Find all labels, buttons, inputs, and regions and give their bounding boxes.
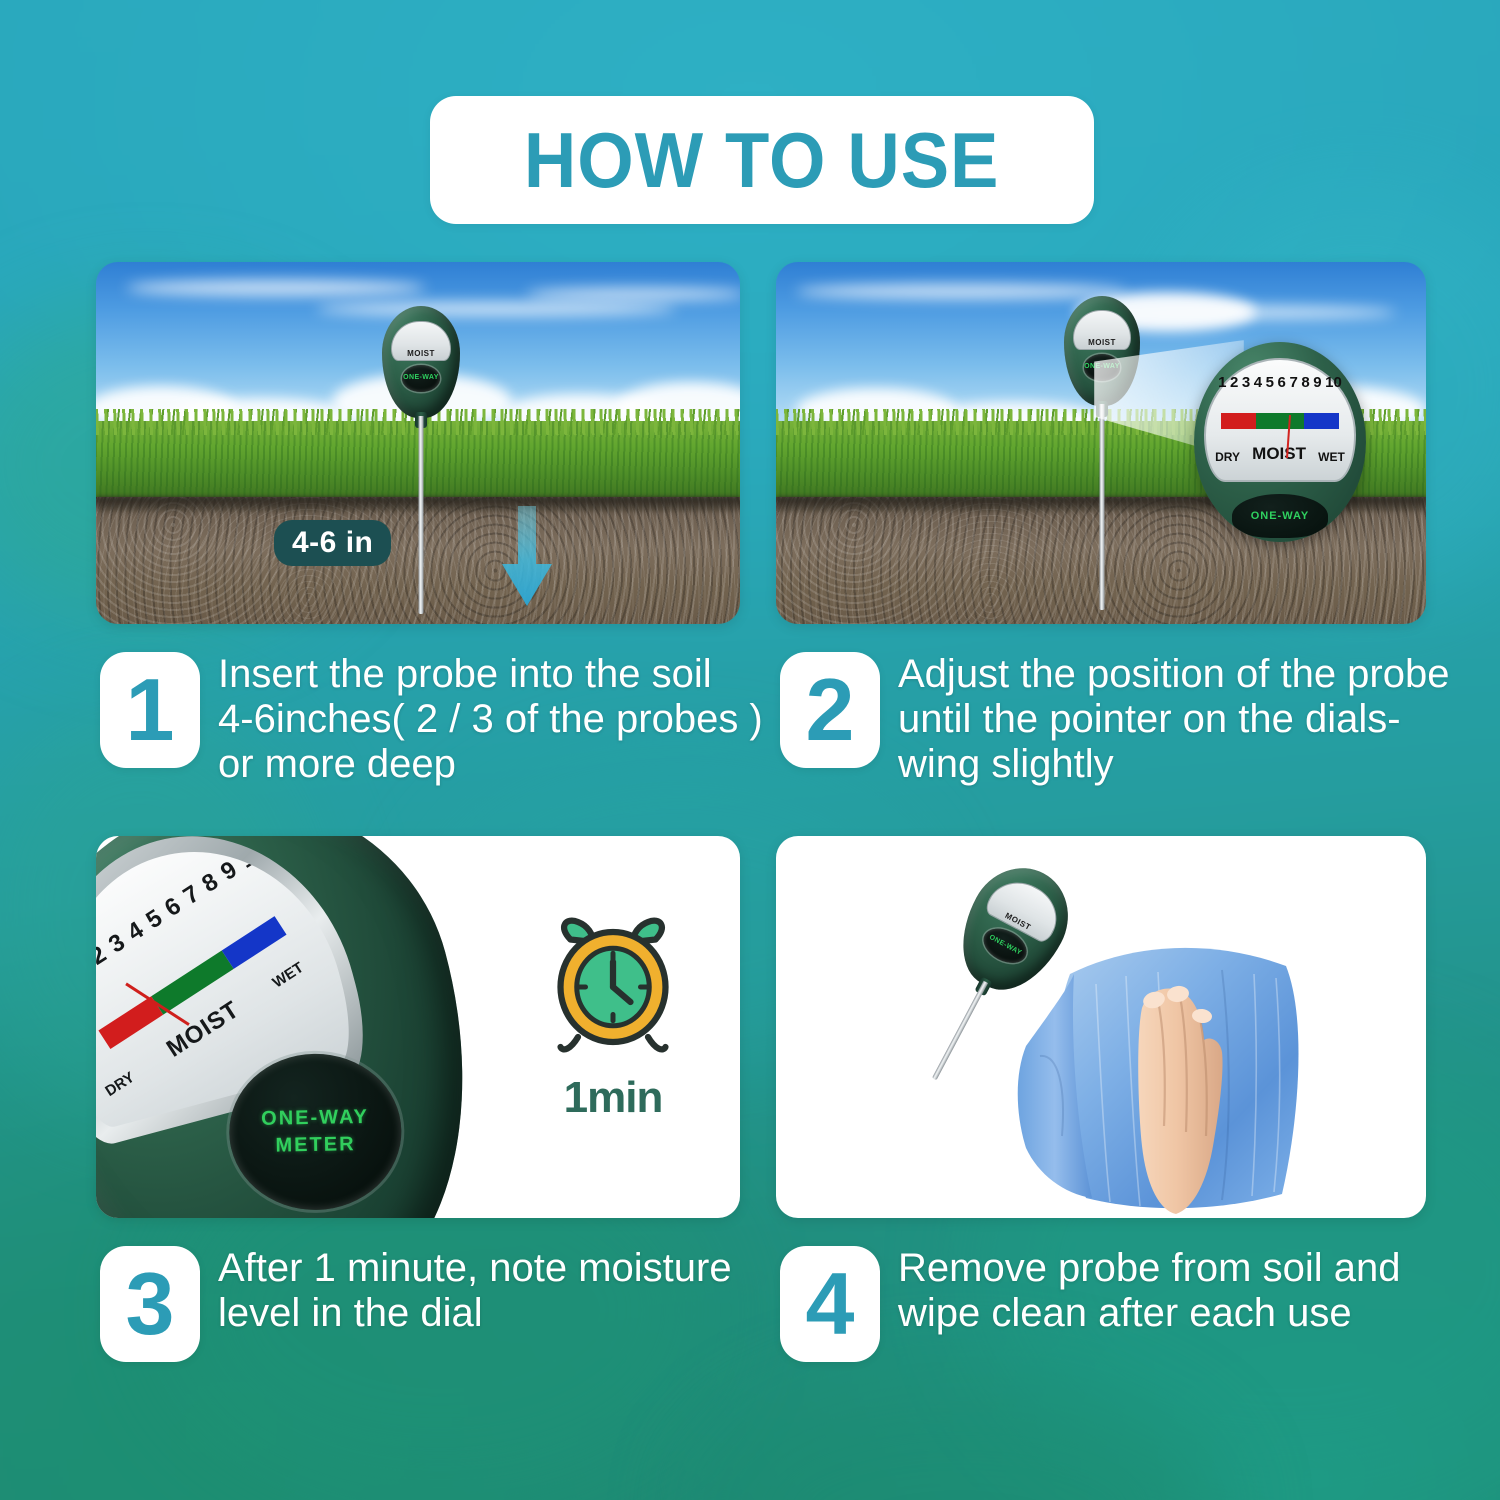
meter-scale: [396, 327, 446, 344]
step-text-line: or more deep: [218, 742, 763, 787]
dial-number: 4: [1254, 374, 1262, 391]
meter-logo-text: ONE-WAY: [402, 365, 439, 392]
step-text-line: Remove probe from soil and: [898, 1246, 1400, 1291]
magnified-dial-scale: [1221, 413, 1339, 429]
dial-number: 4: [123, 916, 149, 947]
step-1-photo: MOIST ONE-WAY 4-6 in: [96, 262, 740, 624]
step-number: 1: [126, 666, 175, 754]
cloud-wisp: [316, 302, 676, 316]
step-1-text: Insert the probe into the soil 4-6inches…: [218, 652, 763, 786]
meter-logo-badge: ONE-WAY: [402, 365, 439, 392]
step-number: 4: [806, 1260, 855, 1348]
dial-number: 10: [1325, 374, 1342, 391]
dial-number: 5: [142, 904, 168, 935]
step-1-row: 1 Insert the probe into the soil 4-6inch…: [100, 652, 763, 786]
step-number: 3: [126, 1260, 175, 1348]
step-text-line: After 1 minute, note moisture: [218, 1246, 732, 1291]
meter-dial-label: MOIST: [1074, 338, 1130, 347]
scale-zone-dry: [1221, 413, 1256, 429]
step-4-photo: MOIST ONE-WAY: [776, 836, 1426, 1218]
hand: [1124, 966, 1236, 1216]
dial-label-wet: WET: [270, 959, 307, 991]
step-text-line: Insert the probe into the soil: [218, 652, 763, 697]
meter-scale: [1077, 317, 1126, 334]
step-number-badge-3: 3: [100, 1246, 200, 1362]
alarm-clock-icon: [538, 912, 688, 1062]
meter-logo-line-2: METER: [275, 1134, 355, 1158]
step-text-line: level in the dial: [218, 1291, 732, 1336]
magnified-dial-callout: 1 2 3 4 5 6 7 8 9 10 DRY MOIST WET: [1194, 342, 1366, 542]
down-arrow-icon: [496, 506, 558, 606]
dial-number: 3: [1242, 374, 1250, 391]
meter-dial-window: MOIST: [391, 321, 450, 361]
meter-dial-label: MOIST: [392, 349, 449, 358]
scale-zone-wet: [1033, 916, 1051, 926]
step-2-row: 2 Adjust the position of the probe until…: [780, 652, 1449, 786]
cloud-wisp: [526, 288, 740, 300]
step-text-line: until the pointer on the dials-: [898, 697, 1449, 742]
meter-closeup: 1 2 3 4 5 6 7 8 9 10 DRY MOIST WET: [96, 836, 526, 1218]
step-4-text: Remove probe from soil and wipe clean af…: [898, 1246, 1400, 1336]
dial-number: 5: [1266, 374, 1274, 391]
dial-number: 7: [1289, 374, 1297, 391]
timer-label: 1min: [528, 1073, 698, 1123]
dial-number: 9: [1313, 374, 1321, 391]
title-card: HOW TO USE: [430, 96, 1094, 224]
dial-number: 3: [104, 928, 130, 959]
step-3-photo: 1 2 3 4 5 6 7 8 9 10 DRY MOIST WET: [96, 836, 740, 1218]
scale-zone-dry: [996, 896, 1014, 906]
dial-number: 9: [216, 855, 242, 886]
step-number-badge-1: 1: [100, 652, 200, 768]
step-text-line: 4-6inches( 2 / 3 of the probes ): [218, 697, 763, 742]
scale-zone-wet: [1304, 413, 1339, 429]
dial-label-dry: DRY: [103, 1069, 138, 1100]
depth-badge: 4-6 in: [274, 520, 391, 566]
dial-number: 7: [179, 880, 205, 911]
soil-meter-device: MOIST ONE-WAY: [382, 306, 460, 418]
meter-probe-rod: [419, 416, 424, 614]
step-text-line: Adjust the position of the probe: [898, 652, 1449, 697]
timer-indicator: 1min: [528, 912, 698, 1123]
dial-number: 6: [160, 892, 186, 923]
step-2-text: Adjust the position of the probe until t…: [898, 652, 1449, 786]
dial-label-moist: MOIST: [1252, 444, 1306, 464]
meter-probe-rod: [1100, 404, 1105, 610]
dial-label-dry: DRY: [1215, 450, 1240, 464]
magnified-dial-labels: DRY MOIST WET: [1215, 444, 1345, 464]
step-text-line: wing slightly: [898, 742, 1449, 787]
meter-probe-rod: [932, 981, 988, 1080]
step-number-badge-4: 4: [780, 1246, 880, 1362]
step-number: 2: [806, 666, 855, 754]
meter-dial-window: MOIST: [1073, 310, 1131, 350]
step-3-row: 3 After 1 minute, note moisture level in…: [100, 1246, 732, 1362]
dial-number: 8: [197, 867, 223, 898]
cloud-wisp: [126, 280, 426, 296]
magnified-dial-numbers: 1 2 3 4 5 6 7 8 9 10: [1218, 374, 1342, 391]
scale-zone-wet: [222, 917, 287, 970]
dial-number: 8: [1301, 374, 1309, 391]
dial-number: 6: [1278, 374, 1286, 391]
dial-label-wet: WET: [1318, 450, 1345, 464]
step-3-text: After 1 minute, note moisture level in t…: [218, 1246, 732, 1336]
step-2-photo: MOIST ONE-WAY 1 2 3 4 5 6 7 8 9 10: [776, 262, 1426, 624]
magnified-dial-face: 1 2 3 4 5 6 7 8 9 10 DRY MOIST WET: [1204, 358, 1355, 482]
meter-logo-line-1: ONE-WAY: [261, 1106, 369, 1131]
scale-zone-moist: [1014, 906, 1032, 916]
dial-number: 2: [1230, 374, 1238, 391]
scale-zone-moist: [1256, 413, 1303, 429]
step-text-line: wipe clean after each use: [898, 1291, 1400, 1336]
page-title: HOW TO USE: [524, 121, 999, 199]
magnified-logo-badge: ONE-WAY: [1232, 494, 1328, 538]
dial-number: 1: [1218, 374, 1226, 391]
step-4-row: 4 Remove probe from soil and wipe clean …: [780, 1246, 1400, 1362]
scale-zone-dry: [98, 997, 163, 1050]
step-number-badge-2: 2: [780, 652, 880, 768]
